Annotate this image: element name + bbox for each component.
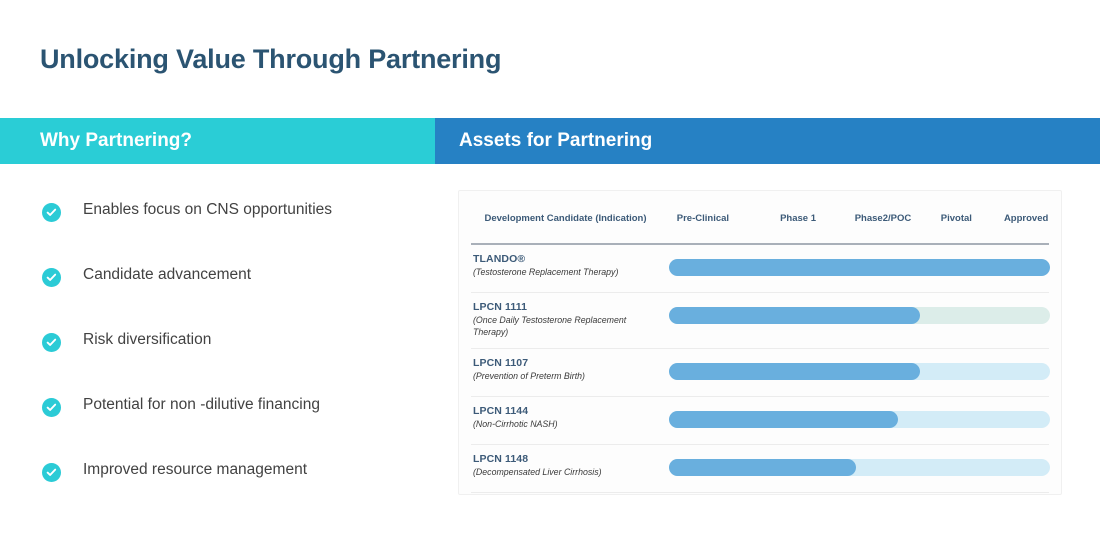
candidate-cell: TLANDO®(Testosterone Replacement Therapy… xyxy=(473,253,663,279)
progress-fill xyxy=(669,259,1050,276)
candidate-indication: (Testosterone Replacement Therapy) xyxy=(473,267,663,279)
why-partnering-list: Enables focus on CNS opportunitiesCandid… xyxy=(42,190,432,515)
progress-fill xyxy=(669,459,856,476)
pipeline-column-headers: Development Candidate (Indication)Pre-Cl… xyxy=(473,213,1047,237)
section-band-why-partnering-label: Why Partnering? xyxy=(0,130,192,152)
pipeline-card: Development Candidate (Indication)Pre-Cl… xyxy=(458,190,1062,495)
list-item: Potential for non -dilutive financing xyxy=(42,385,432,450)
pipeline-row: LPCN 1111(Once Daily Testosterone Replac… xyxy=(471,293,1049,349)
progress-track xyxy=(669,259,1050,276)
pipeline-rows: TLANDO®(Testosterone Replacement Therapy… xyxy=(459,245,1061,493)
pipeline-column-header: Pre-Clinical xyxy=(677,213,729,224)
section-band-why-partnering: Why Partnering? xyxy=(0,118,435,164)
candidate-cell: LPCN 1148(Decompensated Liver Cirrhosis) xyxy=(473,453,663,479)
candidate-name: LPCN 1107 xyxy=(473,357,663,369)
page-title: Unlocking Value Through Partnering xyxy=(40,44,501,75)
progress-track xyxy=(669,411,1050,428)
list-item: Improved resource management xyxy=(42,450,432,515)
list-item-label: Improved resource management xyxy=(83,460,307,480)
section-band-assets-for-partnering: Assets for Partnering xyxy=(435,118,1100,164)
pipeline-column-header: Development Candidate (Indication) xyxy=(484,213,646,224)
pipeline-column-header: Pivotal xyxy=(941,213,972,224)
check-circle-icon xyxy=(42,203,61,222)
check-circle-icon xyxy=(42,398,61,417)
progress-track xyxy=(669,307,1050,324)
candidate-indication: (Non-Cirrhotic NASH) xyxy=(473,419,663,431)
candidate-indication: (Prevention of Preterm Birth) xyxy=(473,371,663,383)
candidate-cell: LPCN 1144(Non-Cirrhotic NASH) xyxy=(473,405,663,431)
progress-track xyxy=(669,459,1050,476)
list-item-label: Risk diversification xyxy=(83,330,211,350)
pipeline-row: LPCN 1107(Prevention of Preterm Birth) xyxy=(471,349,1049,397)
progress-track xyxy=(669,363,1050,380)
check-circle-icon xyxy=(42,268,61,287)
check-circle-icon xyxy=(42,463,61,482)
candidate-cell: LPCN 1107(Prevention of Preterm Birth) xyxy=(473,357,663,383)
pipeline-column-header: Approved xyxy=(1004,213,1048,224)
candidate-name: LPCN 1144 xyxy=(473,405,663,417)
list-item: Risk diversification xyxy=(42,320,432,385)
list-item: Enables focus on CNS opportunities xyxy=(42,190,432,255)
pipeline-row: LPCN 1144(Non-Cirrhotic NASH) xyxy=(471,397,1049,445)
candidate-indication: (Once Daily Testosterone Replacement The… xyxy=(473,315,663,338)
section-band-assets-for-partnering-label: Assets for Partnering xyxy=(435,130,652,152)
list-item-label: Potential for non -dilutive financing xyxy=(83,395,320,415)
progress-fill xyxy=(669,411,898,428)
pipeline-column-header: Phase 1 xyxy=(780,213,816,224)
check-circle-icon xyxy=(42,333,61,352)
section-band-row: Why Partnering? Assets for Partnering xyxy=(0,118,1100,164)
candidate-name: LPCN 1111 xyxy=(473,301,663,313)
progress-fill xyxy=(669,363,920,380)
candidate-cell: LPCN 1111(Once Daily Testosterone Replac… xyxy=(473,301,663,338)
list-item: Candidate advancement xyxy=(42,255,432,320)
pipeline-column-header: Phase2/POC xyxy=(855,213,912,224)
list-item-label: Enables focus on CNS opportunities xyxy=(83,200,332,220)
list-item-label: Candidate advancement xyxy=(83,265,251,285)
pipeline-row: LPCN 1148(Decompensated Liver Cirrhosis) xyxy=(471,445,1049,493)
candidate-name: TLANDO® xyxy=(473,253,663,265)
candidate-indication: (Decompensated Liver Cirrhosis) xyxy=(473,467,663,479)
pipeline-row: TLANDO®(Testosterone Replacement Therapy… xyxy=(471,245,1049,293)
progress-fill xyxy=(669,307,920,324)
candidate-name: LPCN 1148 xyxy=(473,453,663,465)
